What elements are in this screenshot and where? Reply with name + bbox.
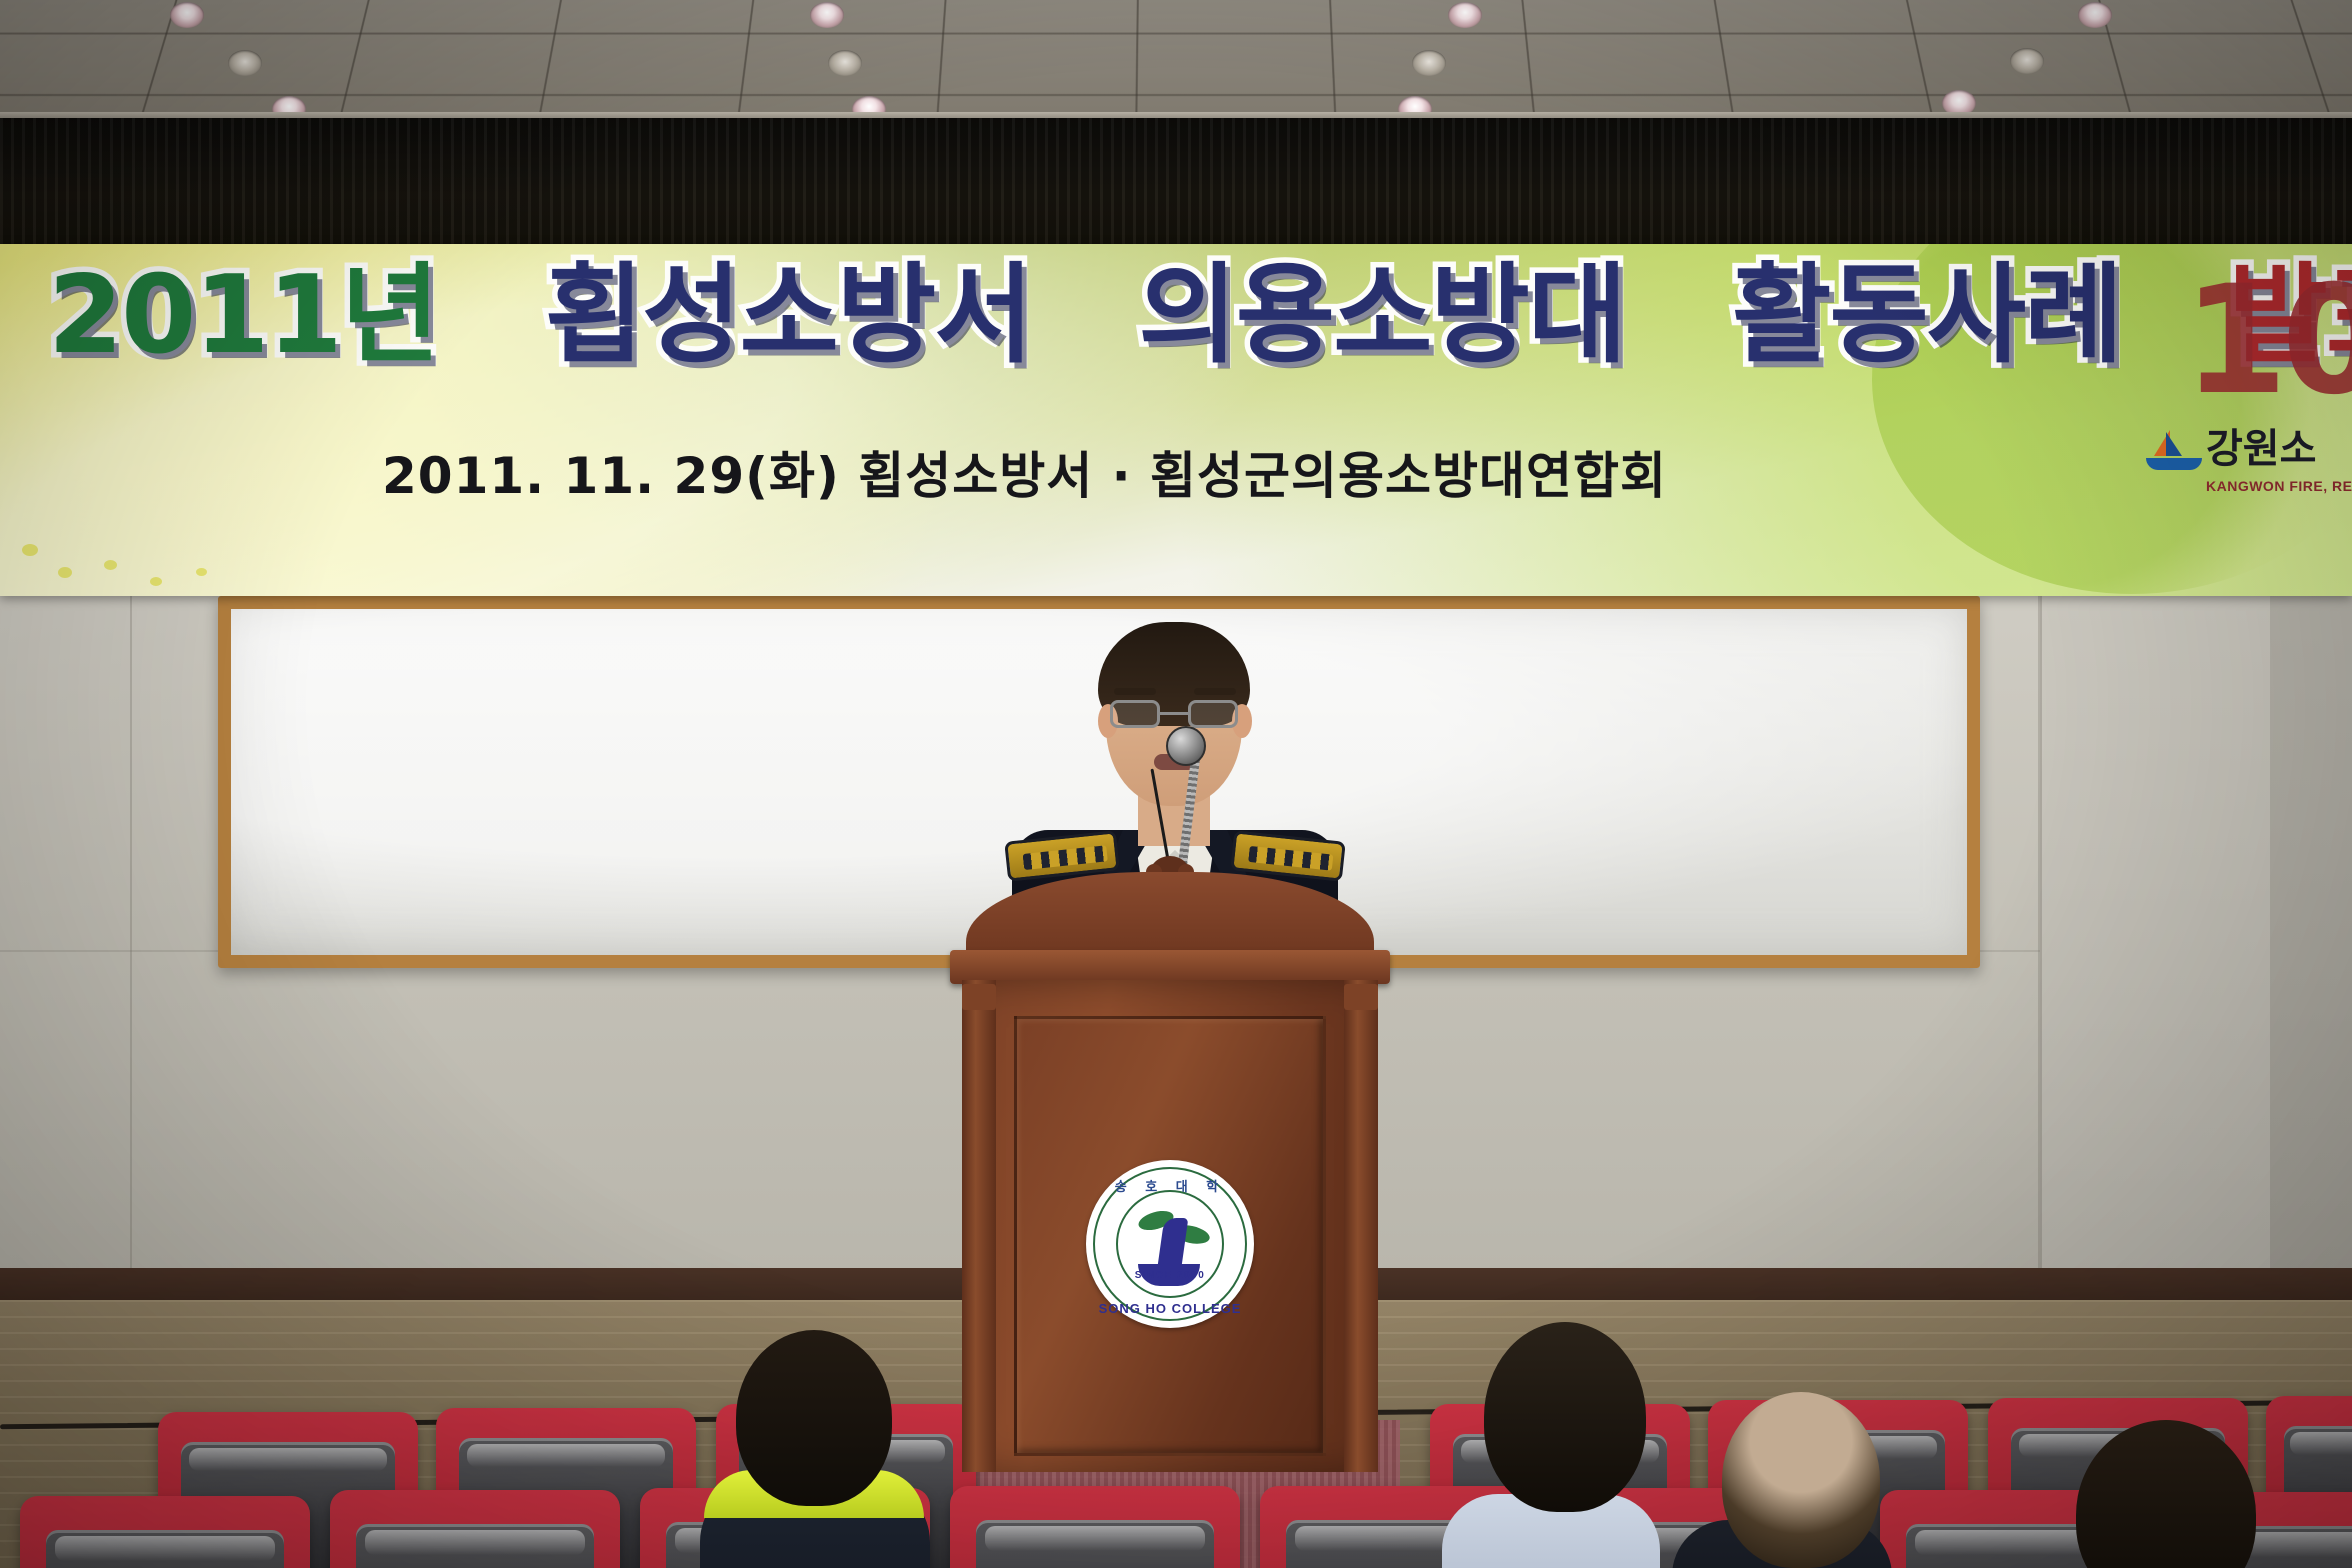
- speaker-eyebrow-right: [1194, 688, 1236, 695]
- ceiling-downlight: [228, 50, 262, 76]
- audience-head: [736, 1330, 892, 1506]
- banner-title-brigade: 의용소방대: [1138, 253, 1625, 378]
- wall-panel-far-right: [2270, 580, 2352, 1280]
- banner-title-station: 횝성소방서: [545, 253, 1032, 378]
- podium-capital-left: [962, 984, 996, 1010]
- podium-cornice: [950, 950, 1390, 984]
- eyeglasses-icon: [1110, 700, 1238, 730]
- ceiling-downlight: [2078, 2, 2112, 28]
- stage-curtain: [0, 118, 2352, 258]
- seat: [950, 1486, 1240, 1568]
- photo-canvas: 2011년 횝성소방서 의용소방대 활동사례 발표회 2011. 11. 29(…: [0, 0, 2352, 1568]
- speaker-eyebrow-left: [1114, 688, 1156, 695]
- gangwon-fire-logo: 10 강원소 KANGWON FIRE, RE: [2140, 254, 2352, 504]
- logo-english-text: KANGWON FIRE, RE: [2206, 478, 2352, 494]
- podium-body: 송 호 대 학 SINCE 2000 SONG HO COLLEGE: [962, 980, 1378, 1472]
- banner-title-year: 2011년: [48, 253, 438, 378]
- microphone-icon: [1166, 726, 1206, 766]
- banner-title-cases: 활동사례: [1732, 253, 2121, 378]
- ceiling-downlight: [810, 2, 844, 28]
- banner-subtitle: 2011. 11. 29(화) 횝성소방서 · 횝성군의용소방대연합회: [382, 436, 1667, 508]
- logo-numeral: 10: [2183, 254, 2352, 428]
- emblem-korean-arc: 송 호 대 학: [1086, 1176, 1254, 1195]
- podium-arched-top: [966, 872, 1374, 958]
- ceiling-downlight: [2010, 48, 2044, 74]
- podium-pilaster-right: [1344, 980, 1378, 1472]
- songho-college-emblem: 송 호 대 학 SINCE 2000 SONG HO COLLEGE: [1086, 1160, 1254, 1328]
- event-banner: 2011년 횝성소방서 의용소방대 활동사례 발표회 2011. 11. 29(…: [0, 244, 2352, 596]
- audience-head: [1722, 1392, 1880, 1568]
- audience-head: [1484, 1322, 1646, 1512]
- ceiling-downlight: [1448, 2, 1482, 28]
- podium-capital-right: [1344, 984, 1378, 1010]
- seat: [20, 1496, 310, 1568]
- podium: 송 호 대 학 SINCE 2000 SONG HO COLLEGE: [944, 872, 1396, 1472]
- podium-pilaster-left: [962, 980, 996, 1472]
- ceiling-downlight: [828, 50, 862, 76]
- seat: [330, 1490, 620, 1568]
- ceiling-downlight: [1412, 50, 1446, 76]
- ceiling-downlight: [170, 2, 204, 28]
- emblem-english-arc: SONG HO COLLEGE: [1086, 1301, 1254, 1316]
- wall-panel-right: [2040, 590, 2270, 1290]
- banner-title: 2011년 횝성소방서 의용소방대 활동사례 발표회: [48, 262, 2352, 370]
- logo-korean-text: 강원소: [2206, 416, 2316, 474]
- logo-mark-icon: [2146, 430, 2204, 470]
- emblem-since-text: SINCE 2000: [1086, 1270, 1254, 1281]
